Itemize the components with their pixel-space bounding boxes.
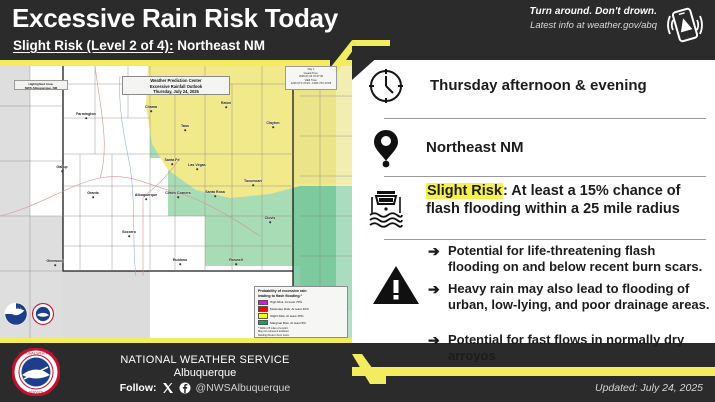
agency-name: NATIONAL WEATHER SERVICE: [70, 354, 340, 366]
risk-row: Slight Risk: At least a 15% chance of fl…: [368, 182, 710, 234]
divider: [384, 239, 706, 240]
map-city-dot: [61, 170, 63, 172]
map-city-dot: [145, 198, 147, 200]
legend-swatch-slight: [258, 313, 268, 319]
arrow-icon: ➔: [428, 243, 448, 261]
noaa-seal: NOAA: [4, 302, 28, 326]
subtitle-region: Northeast NM: [174, 38, 266, 53]
map-city-label: Ruidoso: [173, 258, 187, 262]
map-city-dot: [272, 126, 274, 128]
legend-item: Moderate Risk, At least 40%: [258, 306, 344, 312]
safety-tagline: Turn around. Don't drown.: [530, 6, 657, 17]
accent-bar-map-bottom: [0, 338, 352, 343]
social-handle[interactable]: @NWSAlbuquerque: [196, 382, 291, 394]
highlight-line-2: NWS Albuquerque, NM: [15, 86, 67, 90]
safety-tagline-block: Turn around. Don't drown. Latest info at…: [530, 6, 657, 31]
bullet-text: Heavy rain may also lead to flooding of …: [448, 281, 714, 314]
issued-time-box: Day 1 Issued Time: 2025-07-24 07:47:00 V…: [285, 66, 337, 90]
svg-text:NOAA: NOAA: [10, 306, 22, 311]
map-city-dot: [214, 195, 216, 197]
bullet-text: Potential for fast flows in normally dry…: [448, 332, 710, 365]
map-city-dot: [196, 168, 198, 170]
page-subtitle: Slight Risk (Level 2 of 4): Northeast NM: [13, 38, 265, 53]
map-city-label: Gallup: [56, 165, 67, 169]
follow-label: Follow:: [120, 382, 157, 394]
map-city-label: Raton: [221, 101, 231, 105]
map-city-label: Socorro: [122, 230, 136, 234]
timing-row: Thursday afternoon & evening: [366, 62, 706, 110]
map-city-label: Santa Rosa: [205, 190, 225, 194]
highlighted-area-box: Highlighted Area: NWS Albuquerque, NM: [14, 80, 68, 90]
nws-seal-map: [32, 303, 54, 325]
map-city-label: Taos: [181, 124, 189, 128]
clock-icon: [366, 66, 406, 106]
map-city-label: Glenwood: [46, 259, 63, 263]
nws-logo: NATIONAL WEATHER SERVICE: [12, 348, 60, 396]
map-city-label: Las Vegas: [188, 163, 206, 167]
svg-text:SERVICE: SERVICE: [29, 391, 45, 395]
map-city-label: Clines Corners: [165, 191, 191, 195]
x-twitter-icon[interactable]: [162, 382, 174, 394]
svg-text:NATIONAL WEATHER: NATIONAL WEATHER: [19, 352, 54, 356]
legend-title-2: leading to flash flooding.*: [258, 294, 344, 299]
map-city-label: Clovis: [265, 216, 276, 220]
map-city-dot: [225, 106, 227, 108]
map-city-label: Farmington: [76, 112, 96, 116]
map-city-label: Albuquerque: [135, 193, 157, 197]
map-city-dot: [252, 184, 254, 186]
phone-alert-icon: [663, 4, 707, 46]
subtitle-risk-level: Slight Risk (Level 2 of 4):: [13, 38, 174, 53]
bullet-item: ➔ Potential for life-threatening flash f…: [428, 243, 710, 276]
office-name: Albuquerque: [70, 367, 340, 379]
social-row: Follow: @NWSAlbuquerque: [70, 382, 340, 394]
bullet-item: ➔ Heavy rain may also lead to flooding o…: [428, 281, 714, 314]
location-text: Northeast NM: [426, 139, 524, 158]
weather-graphic: Farmington Chama Raton Taos Clayton Sant…: [0, 0, 715, 402]
accent-bar-bottom-right: [352, 367, 715, 376]
legend-label-marginal: Marginal Risk, At least 5%: [270, 321, 306, 325]
risk-level-badge: Slight Risk: [426, 183, 503, 199]
map-pin-icon: [372, 128, 400, 168]
map-city-dot: [235, 263, 237, 265]
footer-text-block: NATIONAL WEATHER SERVICE Albuquerque Fol…: [70, 354, 340, 394]
map-city-dot: [171, 163, 173, 165]
map-city-dot: [85, 117, 87, 119]
legend-swatch-moderate: [258, 306, 268, 312]
latest-info-text: Latest info at weather.gov/abq: [530, 20, 657, 31]
legend-swatch-high: [258, 300, 268, 306]
legend-label-slight: Slight Risk, At least 15%: [270, 314, 304, 318]
map-city-label: Chama: [145, 105, 157, 109]
wpc-line-3: Thursday, July 24, 2025: [123, 89, 229, 95]
legend-item: Marginal Risk, At least 5%: [258, 320, 344, 326]
map-city-dot: [128, 235, 130, 237]
arrow-icon: ➔: [428, 281, 448, 299]
warning-triangle-icon: [372, 264, 420, 306]
facebook-icon[interactable]: [179, 382, 191, 394]
timing-text: Thursday afternoon & evening: [430, 77, 647, 96]
map-city-label: Tucumcari: [244, 179, 262, 183]
map-city-dot: [150, 110, 152, 112]
map-city-label: Grants: [87, 191, 99, 195]
bullet-item: ➔ Potential for fast flows in normally d…: [428, 332, 710, 365]
accent-diagonal-bottom: [326, 354, 386, 384]
map-city-dot: [92, 196, 94, 198]
legend-item: High Risk, At least 70%: [258, 300, 344, 306]
map-city-label: Clayton: [266, 121, 279, 125]
map-legend: Probability of excessive rain leading to…: [254, 286, 348, 338]
legend-label-moderate: Moderate Risk, At least 40%: [270, 307, 309, 311]
map-city-dot: [54, 264, 56, 266]
bullet-text: Potential for life-threatening flash flo…: [448, 243, 710, 276]
legend-item: Slight Risk, At least 15%: [258, 313, 344, 319]
map-city-label: Roswell: [229, 258, 243, 262]
legend-swatch-marginal: [258, 320, 268, 326]
map-city-label: Santa Fe: [165, 158, 180, 162]
map-city-dot: [177, 196, 179, 198]
legend-label-high: High Risk, At least 70%: [270, 300, 302, 304]
map-city-dot: [184, 129, 186, 131]
updated-timestamp: Updated: July 24, 2025: [595, 382, 703, 394]
map-city-dot: [179, 263, 181, 265]
location-row: Northeast NM: [372, 126, 702, 170]
page-title: Excessive Rain Risk Today: [12, 3, 338, 34]
map-city-dot: [269, 221, 271, 223]
wpc-title-box: Weather Prediction Center Excessive Rain…: [122, 76, 230, 95]
arrow-icon: ➔: [428, 332, 448, 350]
valid-time: 1200 UTC 07/24 - 1200 UTC 07/25: [286, 82, 336, 86]
divider: [384, 176, 706, 177]
legend-footnote-3: flooding threat in burn scars.: [258, 334, 344, 337]
divider: [384, 118, 706, 119]
flooded-car-icon: [368, 185, 404, 229]
